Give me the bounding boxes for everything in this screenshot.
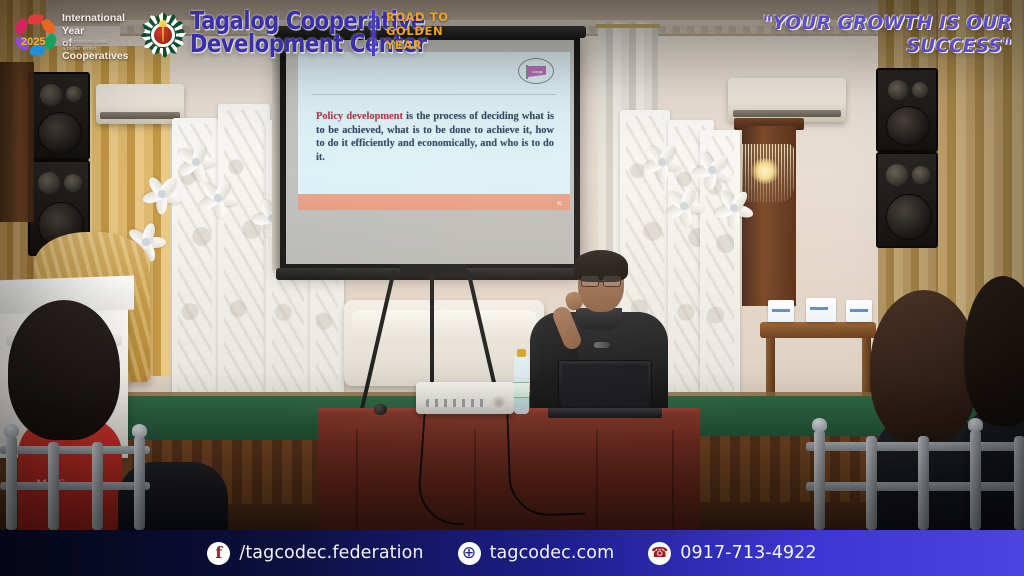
tagcodec-founded-year: 1979 [140,43,186,48]
wooden-side-table [760,322,876,338]
iyc-title: International Year of Cooperatives [62,12,138,62]
flag-label: coop [532,69,543,74]
facebook-glyph: f [215,545,222,561]
audience-hair [964,276,1024,426]
facebook-handle: /tagcodec.federation [239,543,423,563]
wood-column-left [0,62,34,222]
website-url: tagcodec.com [490,543,615,563]
drape-fold [474,430,476,530]
presentation-slide: coop Policy development is the process o… [298,52,570,210]
slogan-text: "YOUR GROWTH IS OUR SUCCESS" [712,12,1012,58]
header-divider [372,10,375,56]
facebook-icon: f [207,542,230,565]
bottle-label [514,382,529,398]
eyeglasses-icon [581,276,621,285]
pa-speaker-right-bottom [876,152,938,248]
contact-footer: f /tagcodec.federation ⊕ tagcodec.com ☎ … [0,530,1024,576]
international-year-of-cooperatives-logo: 2025 International Year of Cooperatives … [12,10,138,58]
phone-glyph: ☎ [651,546,669,560]
table-name-card [846,300,872,322]
paper-flower [662,184,706,228]
iyc-tagline-line1: Cooperatives build [62,39,108,46]
phone-number: 0917-713-4922 [680,543,816,563]
drape-fold [356,430,358,530]
air-conditioner-right [728,78,846,122]
footer-website[interactable]: ⊕ tagcodec.com [458,542,615,565]
projector-ports [426,399,488,407]
screenshot-stage: coop Policy development is the process o… [0,0,1024,576]
iyc-year-label: 2025 [21,36,45,48]
campaign-line-3: YEAR [386,38,449,52]
globe-glyph: ⊕ [462,545,476,562]
drape-fold [672,430,674,530]
campaign-tagline: ROAD TO GOLDEN YEAR [386,10,449,52]
paper-flower [640,140,684,184]
seminar-photo: coop Policy development is the process o… [0,0,1024,530]
lcd-projector [416,382,514,414]
slide-page-number: 46 [556,201,562,207]
presenter-laptop [558,360,652,410]
iyc-title-line1: International Year [62,12,138,37]
table-knob [374,404,387,415]
screen-surface: coop Policy development is the process o… [286,40,574,264]
footer-phone[interactable]: ☎ 0917-713-4922 [648,542,816,565]
backdrop-panel [218,104,270,400]
table-name-card [768,300,794,322]
iyc-tagline: Cooperatives build a better world [62,39,108,53]
pa-speaker-right-top [876,68,938,152]
paper-flower [712,186,756,230]
projector-vent [491,396,507,410]
paper-flower [196,176,240,220]
banquet-chair-right [806,420,1024,530]
tagcodec-gear-logo-icon: 1979 [140,12,186,58]
paper-flower [140,172,184,216]
audience-hair [8,300,120,440]
footer-facebook[interactable]: f /tagcodec.federation [207,542,423,565]
slide-highlight-phrase: Policy development [316,111,403,122]
phone-icon: ☎ [648,542,671,565]
branding-header: 2025 International Year of Cooperatives … [0,0,1024,68]
iyc-tagline-line2: a better world [62,46,108,53]
shirt-logo [594,342,610,348]
campaign-line-2: GOLDEN [386,24,449,38]
iyc-doves-logo-icon: 2025 [12,14,58,56]
signal-cable [506,403,586,518]
pa-speaker-left-top [28,72,90,160]
air-conditioner-left [96,84,184,124]
projection-screen: coop Policy development is the process o… [280,34,580,270]
screen-side-edge [272,34,280,270]
drape-fold [596,430,598,530]
slide-bottom-bar: 46 [298,194,570,210]
table-name-card [806,298,836,322]
globe-icon: ⊕ [458,542,481,565]
power-cable [416,404,472,525]
table-leg [766,338,775,396]
slide-divider [312,94,556,95]
water-bottle [514,356,529,414]
bottle-cap [517,349,526,357]
campaign-line-1: ROAD TO [386,10,449,24]
laptop-base [548,408,662,418]
banquet-chair-left [0,430,150,530]
slide-body-text: Policy development is the process of dec… [316,110,554,164]
